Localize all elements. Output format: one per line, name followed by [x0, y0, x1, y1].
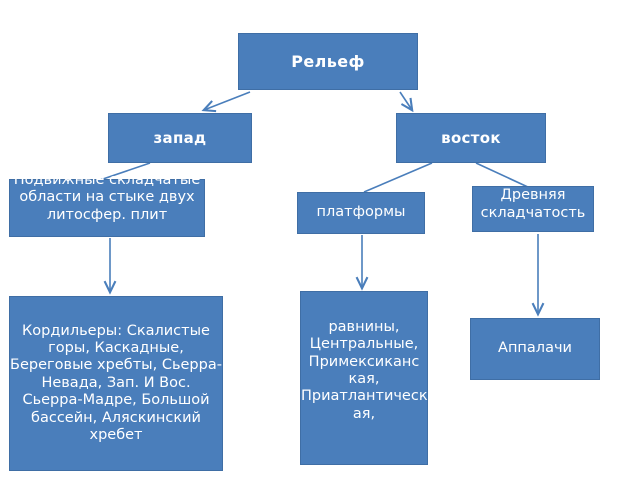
node-appalachians[interactable]: Аппалачи — [470, 318, 600, 380]
node-appalachians-label: Аппалачи — [471, 340, 599, 357]
node-east-label: восток — [397, 129, 545, 147]
node-east[interactable]: восток — [396, 113, 546, 163]
node-plains[interactable]: равнины, Центральные, Примексиканс кая, … — [300, 291, 428, 465]
node-cordillera-label: Кордильеры: Скалистые горы, Каскадные, Б… — [10, 323, 222, 445]
node-cordillera[interactable]: Кордильеры: Скалистые горы, Каскадные, Б… — [9, 296, 223, 471]
node-ancient-folding-label: Древняя складчатость — [473, 187, 593, 222]
node-platforms[interactable]: платформы — [297, 192, 425, 234]
node-folded-belts-label: Подвижные складчатые области на стыке дв… — [10, 172, 204, 224]
node-folded-belts[interactable]: Подвижные складчатые области на стыке дв… — [9, 179, 205, 237]
node-west[interactable]: запад — [108, 113, 252, 163]
connector-east-to-platforms — [364, 163, 432, 192]
connector-relief-to-east — [400, 92, 412, 110]
slide-canvas: Рельеф запад восток Подвижные складчатые… — [0, 0, 640, 480]
connector-east-to-ancient-folding — [476, 163, 530, 188]
node-relief-label: Рельеф — [239, 52, 417, 71]
node-west-label: запад — [109, 129, 251, 147]
node-relief[interactable]: Рельеф — [238, 33, 418, 90]
connector-relief-to-west — [204, 92, 250, 110]
node-ancient-folding[interactable]: Древняя складчатость — [472, 186, 594, 232]
node-plains-label: равнины, Центральные, Примексиканс кая, … — [301, 319, 427, 423]
node-platforms-label: платформы — [298, 204, 424, 221]
